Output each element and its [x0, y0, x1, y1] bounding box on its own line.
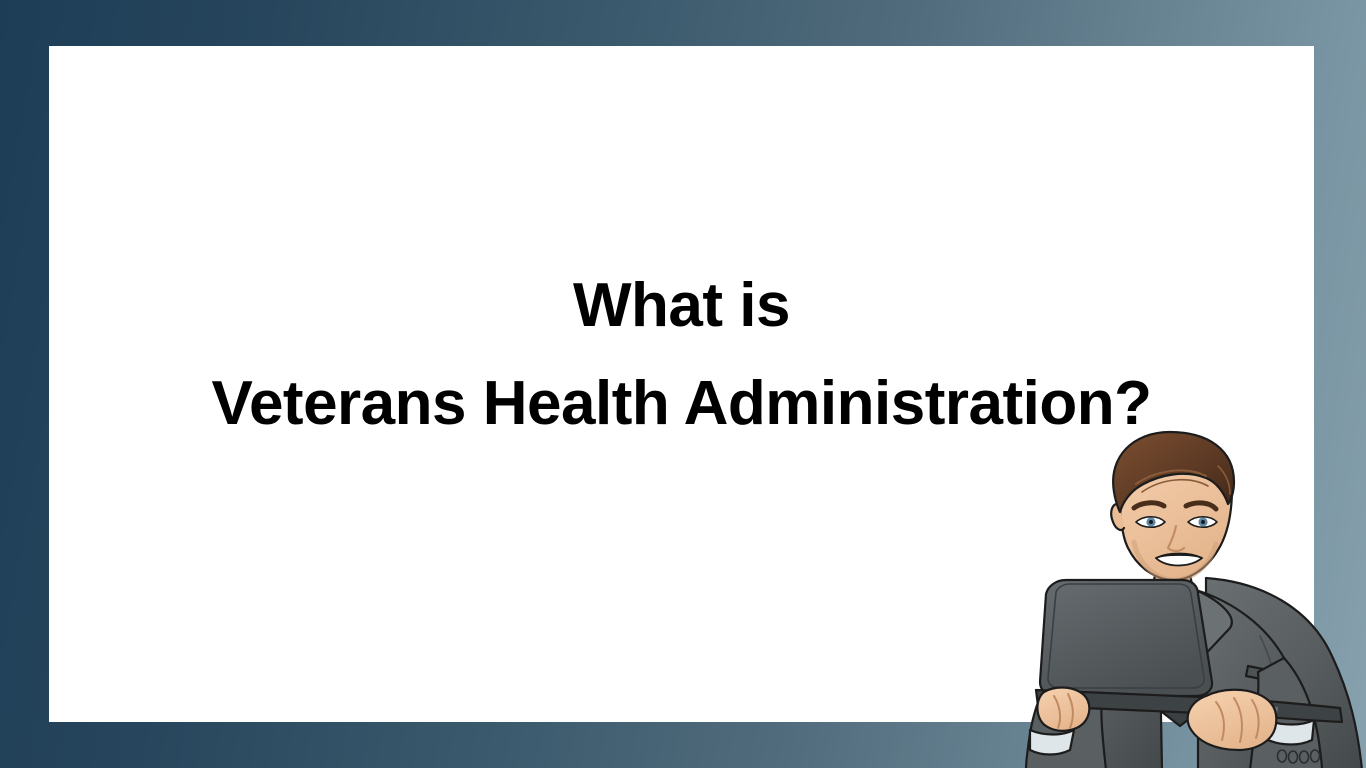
page-title: What is Veterans Health Administration?	[49, 270, 1314, 440]
hand-left	[1037, 688, 1089, 731]
title-line-1: What is	[49, 270, 1314, 342]
presentation-slide: What is Veterans Health Administration?	[0, 0, 1366, 768]
shirt-cuff-left	[1030, 730, 1074, 755]
businessman-with-laptop-illustration	[1010, 430, 1366, 768]
pupil-left	[1149, 520, 1153, 524]
pupil-right	[1201, 520, 1205, 524]
hand-right	[1188, 690, 1277, 750]
laptop-lid	[1040, 580, 1212, 696]
